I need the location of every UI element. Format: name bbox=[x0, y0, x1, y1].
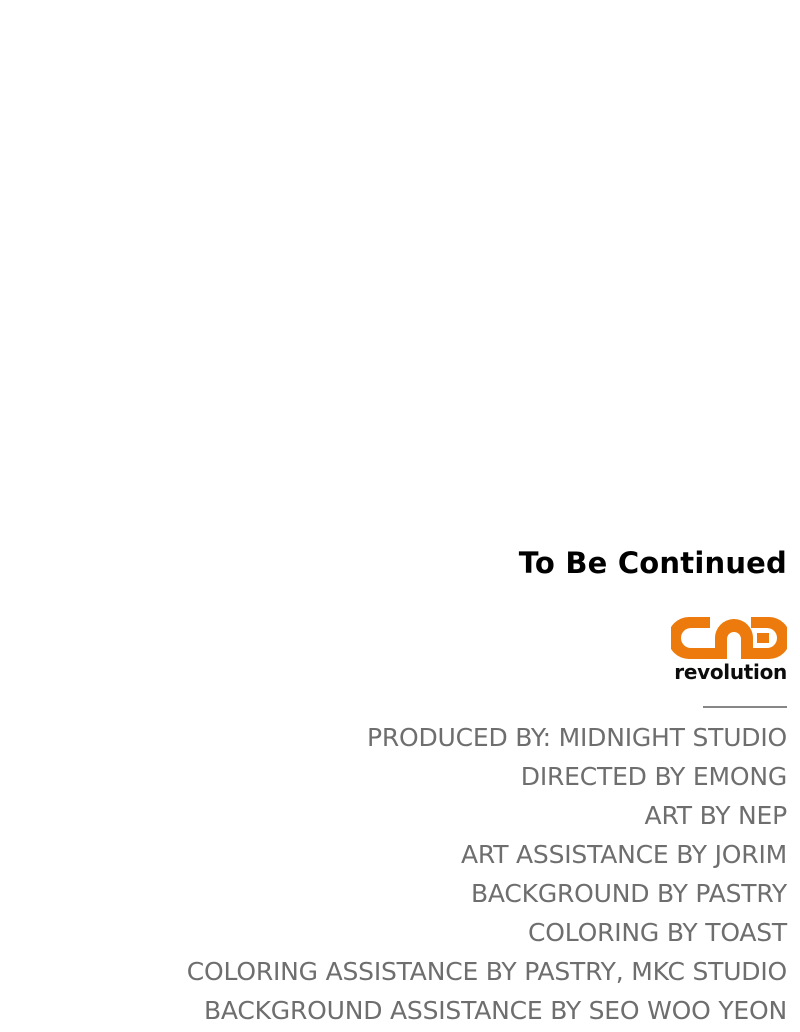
cnc-revolution-logo: revolution bbox=[671, 616, 787, 688]
cnc-logo-mark-icon bbox=[671, 616, 787, 660]
credit-line: BACKGROUND BY PASTRY bbox=[7, 874, 787, 913]
credit-line: DIRECTED BY EMONG bbox=[7, 757, 787, 796]
credits-divider bbox=[703, 706, 787, 708]
logo-wordmark-text: revolution bbox=[671, 661, 787, 683]
credit-line: ART ASSISTANCE BY JORIM bbox=[7, 835, 787, 874]
credit-line: BACKGROUND ASSISTANCE BY SEO WOO YEON bbox=[7, 991, 787, 1030]
credits-block: PRODUCED BY: MIDNIGHT STUDIO DIRECTED BY… bbox=[7, 706, 787, 1030]
credit-line: PRODUCED BY: MIDNIGHT STUDIO bbox=[7, 718, 787, 757]
credit-line: COLORING BY TOAST bbox=[7, 913, 787, 952]
comic-page: To Be Continued revolution PRODUCED BY: … bbox=[0, 0, 800, 1032]
credit-line: COLORING ASSISTANCE BY PASTRY, MKC STUDI… bbox=[7, 952, 787, 991]
credit-line: ART BY NEP bbox=[7, 796, 787, 835]
blank-art-area bbox=[0, 0, 800, 530]
to-be-continued-text: To Be Continued bbox=[519, 545, 787, 581]
